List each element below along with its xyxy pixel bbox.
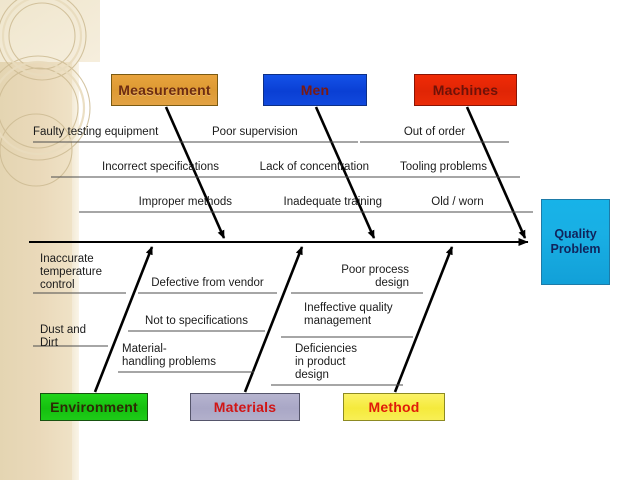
cause-machines-2: Tooling problems (367, 161, 520, 174)
cause-materials-1: Defective from vendor (138, 277, 277, 290)
cause-method-3: Deficiencies in product design (295, 343, 357, 382)
cause-materials-3: Material- handling problems (122, 343, 216, 369)
category-box-method[interactable]: Method (343, 393, 445, 421)
effect-box-quality-problem[interactable]: Quality Problem (541, 199, 610, 285)
category-box-men[interactable]: Men (263, 74, 367, 106)
category-box-measurement[interactable]: Measurement (111, 74, 218, 106)
effect-label-line2: Problem (550, 242, 600, 257)
cause-materials-2: Not to specifications (128, 315, 265, 328)
cause-environment-1: Inaccurate temperature control (40, 253, 102, 292)
cause-measurement-1: Faulty testing equipment (33, 126, 158, 139)
category-box-materials[interactable]: Materials (190, 393, 300, 421)
cause-machines-3: Old / worn (382, 196, 533, 209)
cause-men-3: Inadequate training (226, 196, 382, 209)
cause-measurement-2: Incorrect specifications (51, 161, 219, 174)
cause-machines-1: Out of order (360, 126, 509, 139)
cause-method-1: Poor process design (291, 264, 409, 290)
category-box-environment[interactable]: Environment (40, 393, 148, 421)
category-box-machines[interactable]: Machines (414, 74, 517, 106)
cause-men-2: Lack of concentration (212, 161, 369, 174)
cause-environment-2: Dust and Dirt (40, 324, 86, 350)
effect-label-line1: Quality (554, 227, 596, 242)
slide-canvas: Measurement Men Machines Environment Mat… (0, 0, 640, 480)
cause-method-2: Ineffective quality management (304, 302, 393, 328)
cause-measurement-3: Improper methods (79, 196, 232, 209)
cause-men-1: Poor supervision (212, 126, 298, 139)
